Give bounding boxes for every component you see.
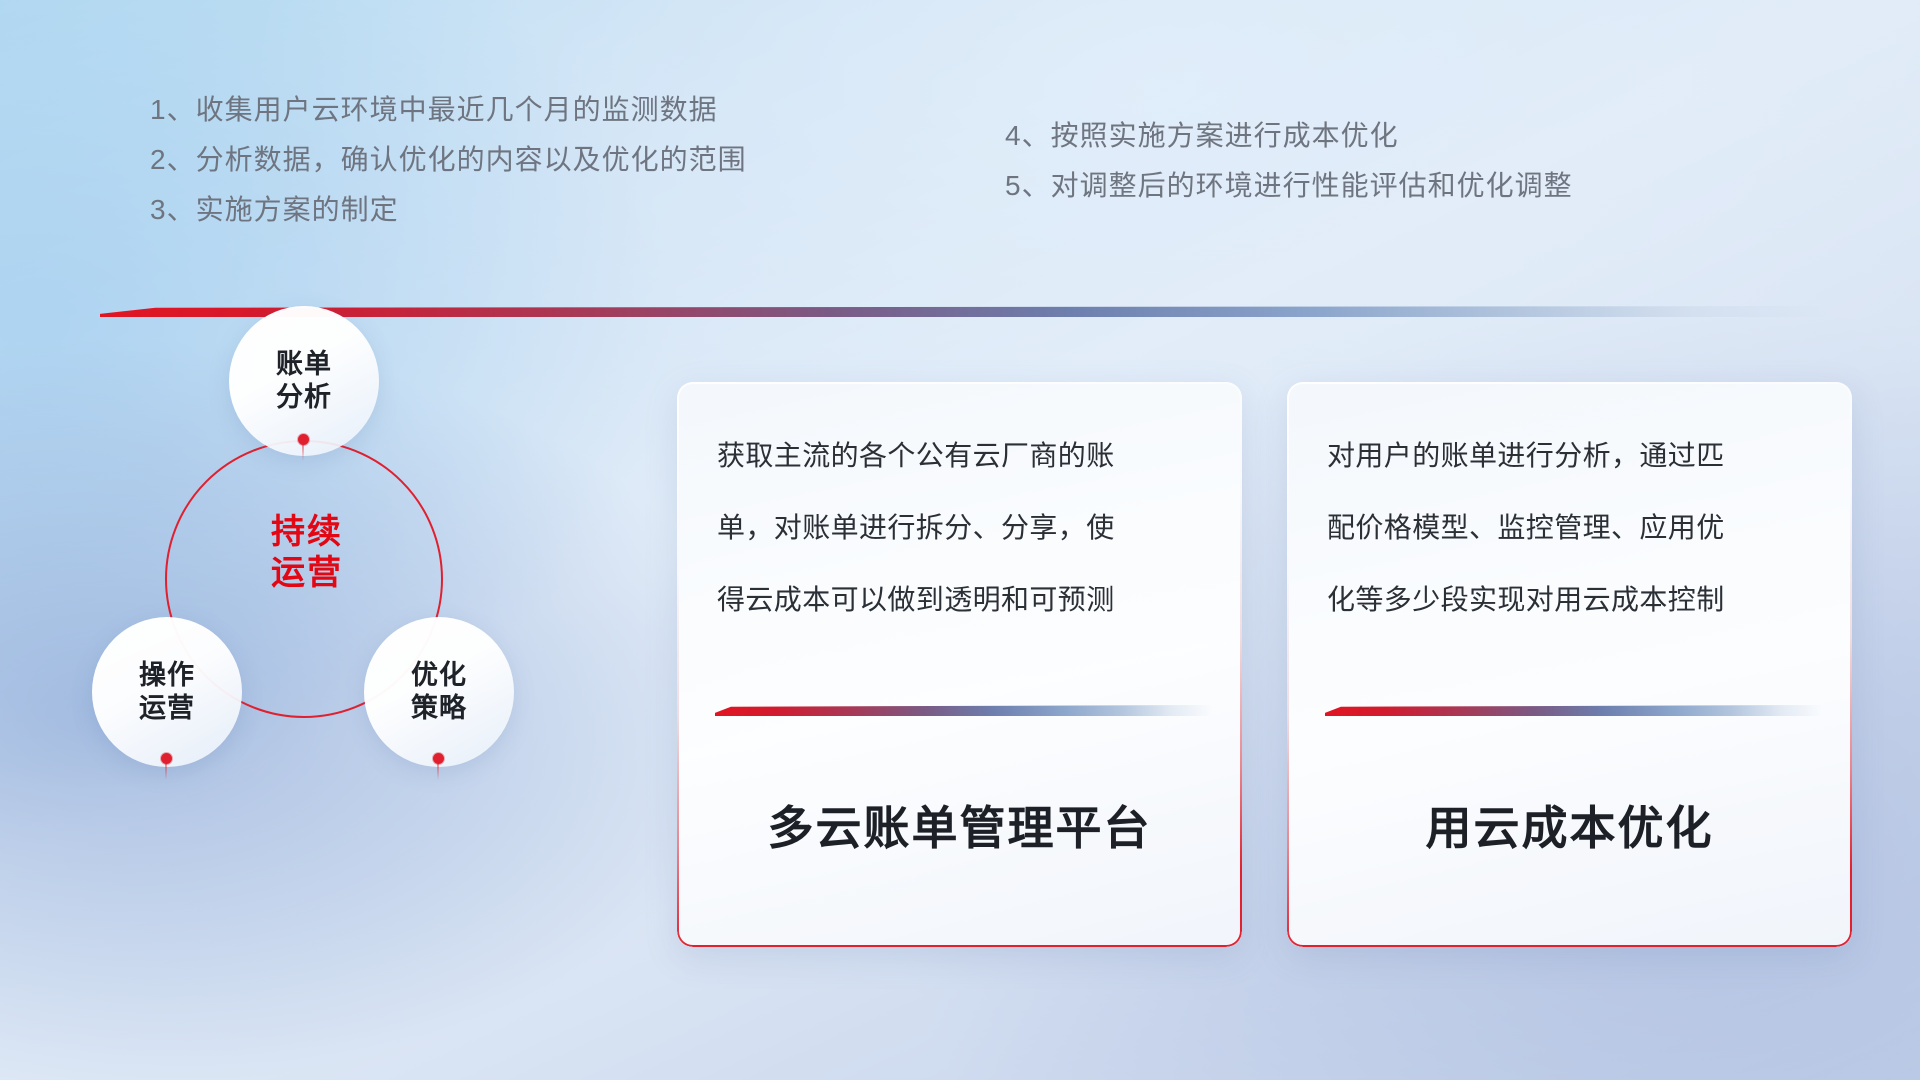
card-divider — [1325, 705, 1822, 716]
card-description-line: 配价格模型、监控管理、应用优 — [1327, 514, 1812, 542]
center-label-line1: 持续 — [252, 512, 362, 553]
card-description-line: 对用户的账单进行分析，通过匹 — [1327, 442, 1812, 470]
diagram-node-dot-top — [298, 434, 309, 445]
card-divider — [715, 705, 1212, 716]
steps-list-right: 4、按照实施方案进行成本优化 5、对调整后的环境进行性能评估和优化调整 — [1005, 122, 1573, 222]
step-item: 2、分析数据，确认优化的内容以及优化的范围 — [150, 146, 747, 174]
diagram-node-dot-left — [161, 753, 172, 764]
card-description-line: 化等多少段实现对用云成本控制 — [1327, 586, 1812, 614]
card-description: 获取主流的各个公有云厂商的账 单，对账单进行拆分、分享，使 得云成本可以做到透明… — [717, 442, 1202, 658]
diagram-center-label: 持续 运营 — [252, 512, 362, 595]
slide-canvas: 1、收集用户云环境中最近几个月的监测数据 2、分析数据，确认优化的内容以及优化的… — [0, 0, 1920, 1080]
card-description-line: 获取主流的各个公有云厂商的账 — [717, 442, 1202, 470]
cycle-diagram: 账单 分析 操作 运营 优化 策略 持续 运营 — [82, 290, 552, 790]
info-card-cloud-cost-optimization[interactable]: 对用户的账单进行分析，通过匹 配价格模型、监控管理、应用优 化等多少段实现对用云… — [1287, 382, 1852, 947]
diagram-bubble-operations[interactable]: 操作 运营 — [92, 617, 242, 767]
divider-gradient-bar — [1325, 705, 1822, 716]
bubble-label-line2: 运营 — [139, 692, 195, 725]
steps-list-left: 1、收集用户云环境中最近几个月的监测数据 2、分析数据，确认优化的内容以及优化的… — [150, 96, 747, 246]
card-description-line: 单，对账单进行拆分、分享，使 — [717, 514, 1202, 542]
step-item: 4、按照实施方案进行成本优化 — [1005, 122, 1573, 150]
step-item: 5、对调整后的环境进行性能评估和优化调整 — [1005, 172, 1573, 200]
card-description-line: 得云成本可以做到透明和可预测 — [717, 586, 1202, 614]
diagram-bubble-optimization-strategy[interactable]: 优化 策略 — [364, 617, 514, 767]
info-card-multicloud-billing[interactable]: 获取主流的各个公有云厂商的账 单，对账单进行拆分、分享，使 得云成本可以做到透明… — [677, 382, 1242, 947]
bubble-label-line1: 账单 — [276, 348, 332, 381]
step-item: 3、实施方案的制定 — [150, 196, 747, 224]
diagram-node-dot-right — [433, 753, 444, 764]
bubble-label-line1: 优化 — [411, 659, 467, 692]
card-title: 多云账单管理平台 — [677, 792, 1242, 858]
center-label-line2: 运营 — [252, 553, 362, 594]
bubble-label-line1: 操作 — [139, 659, 195, 692]
card-title: 用云成本优化 — [1287, 792, 1852, 858]
bubble-label-line2: 策略 — [411, 692, 467, 725]
divider-gradient-bar — [715, 705, 1212, 716]
bubble-label-line2: 分析 — [276, 381, 332, 414]
step-item: 1、收集用户云环境中最近几个月的监测数据 — [150, 96, 747, 124]
card-description: 对用户的账单进行分析，通过匹 配价格模型、监控管理、应用优 化等多少段实现对用云… — [1327, 442, 1812, 658]
